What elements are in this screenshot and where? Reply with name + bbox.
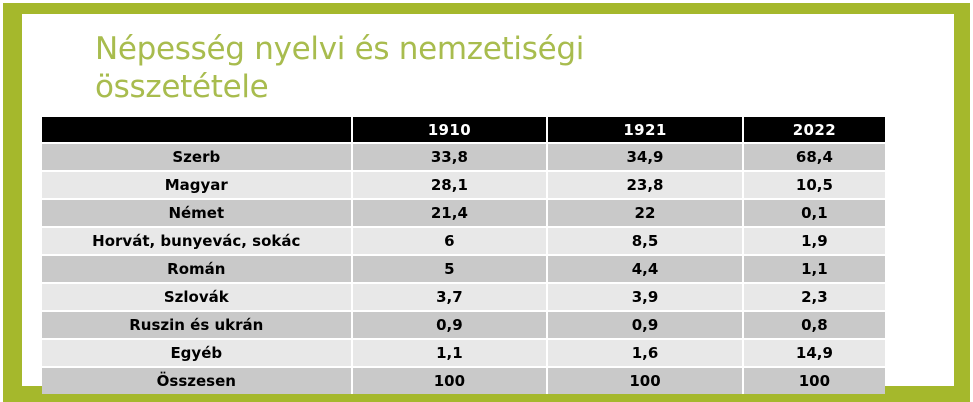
cell-1910: 1,1 (353, 340, 549, 368)
row-label: Román (42, 256, 353, 284)
table-header: 1910 1921 2022 (42, 117, 885, 144)
slide-border-top (3, 3, 970, 14)
cell-2022: 14,9 (744, 340, 885, 368)
cell-1921: 100 (548, 368, 744, 394)
page-title: Népesség nyelvi és nemzetiségi összetéte… (95, 30, 735, 106)
cell-2022: 0,1 (744, 200, 885, 228)
column-header-2022: 2022 (744, 117, 885, 144)
row-label: Német (42, 200, 353, 228)
cell-2022: 1,1 (744, 256, 885, 284)
cell-1921: 3,9 (548, 284, 744, 312)
cell-2022: 0,8 (744, 312, 885, 340)
table-row: Összesen100100100 (42, 368, 885, 394)
cell-1910: 21,4 (353, 200, 549, 228)
cell-2022: 100 (744, 368, 885, 394)
column-header-1910: 1910 (353, 117, 549, 144)
table-row: Horvát, bunyevác, sokác68,51,9 (42, 228, 885, 256)
table-row: Román54,41,1 (42, 256, 885, 284)
table-row: Egyéb1,11,614,9 (42, 340, 885, 368)
row-label: Horvát, bunyevác, sokác (42, 228, 353, 256)
table-row: Szerb33,834,968,4 (42, 144, 885, 172)
cell-2022: 2,3 (744, 284, 885, 312)
cell-1910: 28,1 (353, 172, 549, 200)
table-row: Ruszin és ukrán0,90,90,8 (42, 312, 885, 340)
cell-1921: 22 (548, 200, 744, 228)
cell-1921: 34,9 (548, 144, 744, 172)
cell-1910: 5 (353, 256, 549, 284)
cell-1910: 3,7 (353, 284, 549, 312)
slide-canvas: Népesség nyelvi és nemzetiségi összetéte… (0, 0, 973, 402)
column-header-1921: 1921 (548, 117, 744, 144)
cell-1921: 23,8 (548, 172, 744, 200)
cell-1921: 0,9 (548, 312, 744, 340)
cell-1921: 4,4 (548, 256, 744, 284)
cell-1921: 1,6 (548, 340, 744, 368)
table-body: Szerb33,834,968,4Magyar28,123,810,5Német… (42, 144, 885, 394)
table-header-row: 1910 1921 2022 (42, 117, 885, 144)
column-header-category (42, 117, 353, 144)
cell-2022: 1,9 (744, 228, 885, 256)
cell-1910: 0,9 (353, 312, 549, 340)
row-label: Magyar (42, 172, 353, 200)
row-label: Ruszin és ukrán (42, 312, 353, 340)
cell-1910: 33,8 (353, 144, 549, 172)
table-row: Szlovák3,73,92,3 (42, 284, 885, 312)
population-composition-table: 1910 1921 2022 Szerb33,834,968,4Magyar28… (42, 117, 885, 394)
cell-1910: 6 (353, 228, 549, 256)
slide-border-left (3, 3, 22, 402)
table-row: Német21,4220,1 (42, 200, 885, 228)
row-label: Egyéb (42, 340, 353, 368)
slide-content-area: Népesség nyelvi és nemzetiségi összetéte… (22, 14, 954, 386)
cell-2022: 68,4 (744, 144, 885, 172)
cell-1921: 8,5 (548, 228, 744, 256)
row-label: Szlovák (42, 284, 353, 312)
cell-2022: 10,5 (744, 172, 885, 200)
row-label: Szerb (42, 144, 353, 172)
slide-border-right (954, 3, 970, 402)
table-row: Magyar28,123,810,5 (42, 172, 885, 200)
cell-1910: 100 (353, 368, 549, 394)
row-label: Összesen (42, 368, 353, 394)
